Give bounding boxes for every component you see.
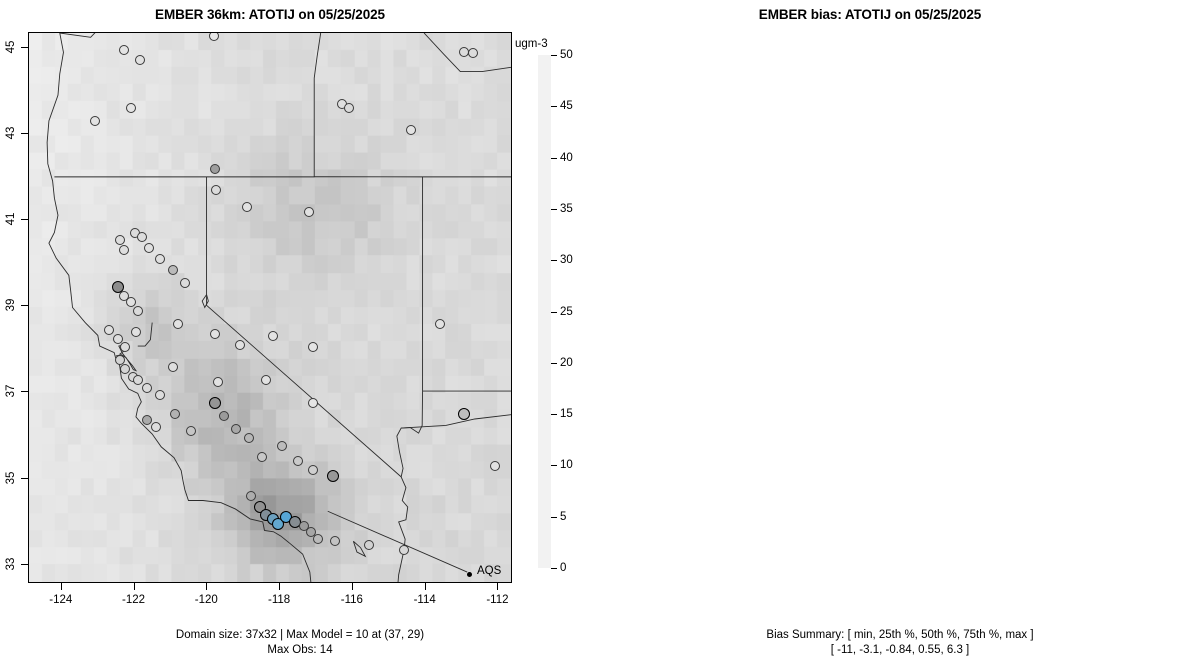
aqs-station-marker[interactable] (144, 243, 154, 253)
aqs-station-marker[interactable] (364, 540, 374, 550)
latitude-tick-mark (21, 133, 28, 134)
longitude-tick-label: -124 (49, 594, 72, 606)
aqs-station-marker[interactable] (257, 452, 267, 462)
aqs-station-marker[interactable] (277, 441, 287, 451)
aqs-station-marker[interactable] (219, 411, 229, 421)
aqs-station-marker[interactable] (133, 306, 143, 316)
aqs-station-marker[interactable] (186, 426, 196, 436)
aqs-station-marker[interactable] (126, 297, 136, 307)
colorbar-tick-label: 20 (560, 357, 573, 369)
aqs-station-marker[interactable] (211, 185, 221, 195)
model-panel: EMBER 36km: ATOTIJ on 05/25/2025 AQS 333… (0, 0, 600, 672)
colorbar-tick-label: 25 (560, 306, 573, 318)
latitude-tick-mark (21, 47, 28, 48)
longitude-tick-label: -122 (122, 594, 145, 606)
aqs-station-marker[interactable] (168, 265, 178, 275)
colorbar-tick-mark (551, 209, 557, 210)
aqs-station-marker[interactable] (235, 340, 245, 350)
aqs-station-marker[interactable] (344, 103, 354, 113)
latitude-tick-label: 33 (5, 557, 17, 570)
aqs-station-marker[interactable] (90, 116, 100, 126)
longitude-tick-mark (425, 583, 426, 590)
longitude-tick-mark (134, 583, 135, 590)
longitude-tick-label: -114 (414, 594, 436, 606)
model-caption-line1: Domain size: 37x32 | Max Model = 10 at (… (0, 628, 600, 643)
aqs-station-marker[interactable] (131, 327, 141, 337)
aqs-station-marker[interactable] (293, 456, 303, 466)
aqs-station-marker[interactable] (168, 362, 178, 372)
longitude-tick-mark (497, 583, 498, 590)
model-colorbar-gradient (538, 55, 551, 568)
colorbar-tick-label: 15 (560, 408, 573, 420)
aqs-station-markers-model[interactable] (29, 33, 511, 582)
aqs-station-marker[interactable] (180, 278, 190, 288)
colorbar-tick-mark (551, 363, 557, 364)
longitude-tick-mark (206, 583, 207, 590)
colorbar-tick-mark (551, 106, 557, 107)
bias-caption-line1: Bias Summary: [ min, 25th %, 50th %, 75t… (600, 628, 1200, 643)
latitude-tick-label: 39 (5, 299, 17, 312)
aqs-station-marker[interactable] (313, 534, 323, 544)
latitude-tick-mark (21, 219, 28, 220)
latitude-tick-mark (21, 478, 28, 479)
bias-panel: EMBER bias: ATOTIJ on 05/25/2025 AQS 333… (600, 0, 1200, 672)
colorbar-tick-mark (551, 158, 557, 159)
model-map-plot[interactable]: AQS (28, 32, 512, 583)
latitude-tick-mark (21, 391, 28, 392)
latitude-tick-mark (21, 564, 28, 565)
aqs-station-marker[interactable] (308, 342, 318, 352)
colorbar-tick-label: 35 (560, 203, 573, 215)
aqs-station-marker[interactable] (119, 45, 129, 55)
aqs-station-marker[interactable] (330, 536, 340, 546)
aqs-station-marker[interactable] (133, 375, 143, 385)
longitude-tick-mark (279, 583, 280, 590)
colorbar-tick-mark (551, 312, 557, 313)
aqs-station-marker[interactable] (155, 390, 165, 400)
aqs-station-marker[interactable] (170, 409, 180, 419)
colorbar-tick-label: 40 (560, 152, 573, 164)
latitude-tick-label: 41 (5, 213, 17, 226)
colorbar-tick-mark (551, 414, 557, 415)
aqs-station-marker[interactable] (435, 319, 445, 329)
aqs-station-marker[interactable] (468, 48, 478, 58)
model-caption-line2: Max Obs: 14 (0, 643, 600, 658)
aqs-station-marker[interactable] (246, 491, 256, 501)
aqs-station-marker[interactable] (209, 397, 221, 409)
colorbar-tick-mark (551, 465, 557, 466)
aqs-station-marker[interactable] (399, 545, 409, 555)
aqs-station-marker[interactable] (308, 465, 318, 475)
aqs-station-marker[interactable] (406, 125, 416, 135)
colorbar-tick-label: 0 (560, 562, 566, 574)
aqs-station-marker[interactable] (304, 207, 314, 217)
aqs-station-marker[interactable] (210, 164, 220, 174)
aqs-station-marker[interactable] (244, 433, 254, 443)
model-panel-title: EMBER 36km: ATOTIJ on 05/25/2025 (0, 7, 540, 22)
aqs-station-marker[interactable] (261, 375, 271, 385)
aqs-station-marker[interactable] (137, 232, 147, 242)
aqs-station-marker[interactable] (458, 408, 470, 420)
aqs-station-marker[interactable] (115, 235, 125, 245)
longitude-tick-mark (352, 583, 353, 590)
aqs-station-marker[interactable] (231, 424, 241, 434)
aqs-station-marker[interactable] (142, 383, 152, 393)
aqs-station-marker[interactable] (119, 245, 129, 255)
aqs-station-marker[interactable] (242, 202, 252, 212)
colorbar-tick-mark (551, 260, 557, 261)
bias-panel-title: EMBER bias: ATOTIJ on 05/25/2025 (600, 7, 1140, 22)
colorbar-tick-label: 45 (560, 100, 573, 112)
aqs-station-marker[interactable] (490, 461, 500, 471)
aqs-station-marker[interactable] (126, 103, 136, 113)
latitude-tick-label: 35 (5, 471, 17, 484)
longitude-tick-label: -118 (268, 594, 290, 606)
bias-caption-line2: [ -11, -3.1, -0.84, 0.55, 6.3 ] (600, 643, 1200, 658)
colorbar-tick-mark (551, 55, 557, 56)
colorbar-tick-mark (551, 517, 557, 518)
aqs-legend-label-left: AQS (477, 565, 501, 577)
longitude-tick-mark (61, 583, 62, 590)
colorbar-tick-label: 30 (560, 254, 573, 266)
aqs-station-marker[interactable] (209, 32, 219, 41)
aqs-legend-dot-left (467, 572, 472, 577)
model-colorbar-unit: ugm-3 (515, 38, 548, 50)
aqs-station-marker[interactable] (327, 470, 339, 482)
aqs-station-marker[interactable] (104, 325, 114, 335)
aqs-station-marker[interactable] (213, 377, 223, 387)
aqs-station-marker[interactable] (268, 331, 278, 341)
longitude-tick-label: -112 (486, 594, 508, 606)
colorbar-tick-label: 5 (560, 511, 566, 523)
aqs-station-marker[interactable] (120, 342, 130, 352)
aqs-station-marker[interactable] (135, 55, 145, 65)
aqs-station-marker[interactable] (151, 422, 161, 432)
colorbar-tick-label: 50 (560, 49, 573, 61)
colorbar-tick-mark (551, 568, 557, 569)
longitude-tick-label: -120 (195, 594, 218, 606)
aqs-station-marker[interactable] (173, 319, 183, 329)
aqs-station-marker[interactable] (308, 398, 318, 408)
colorbar-tick-label: 10 (560, 459, 573, 471)
aqs-station-marker[interactable] (210, 329, 220, 339)
latitude-tick-label: 43 (5, 127, 17, 140)
longitude-tick-label: -116 (341, 594, 363, 606)
latitude-tick-label: 45 (5, 41, 17, 54)
latitude-tick-label: 37 (5, 385, 17, 398)
latitude-tick-mark (21, 305, 28, 306)
aqs-station-marker[interactable] (155, 254, 165, 264)
